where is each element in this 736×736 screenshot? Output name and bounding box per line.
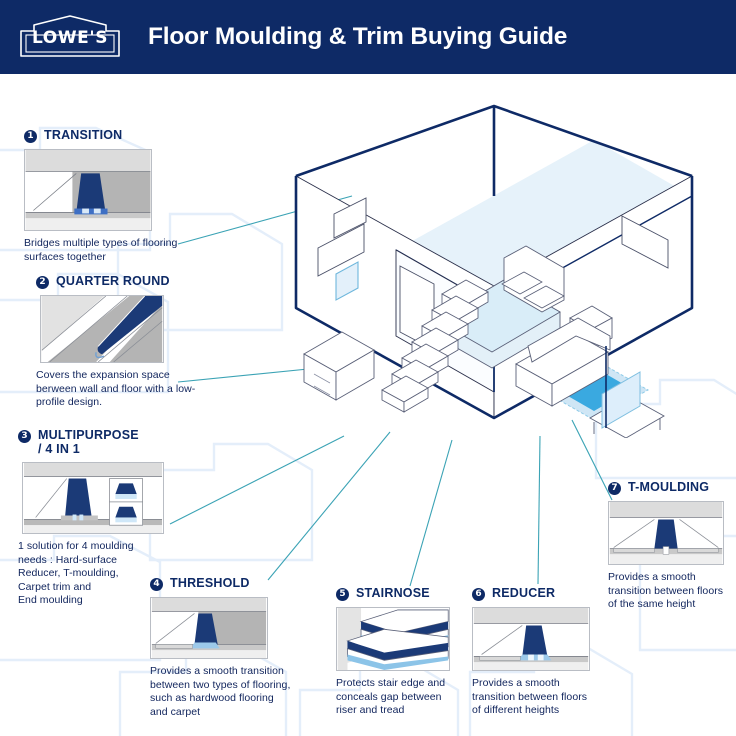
callout-transition[interactable]: 1 TRANSITION Bridges multiple types of f… xyxy=(24,128,182,264)
multipurpose-profile-figure xyxy=(22,462,164,534)
callout-badge-number: 4 xyxy=(150,578,163,591)
callout-badge-number: 7 xyxy=(608,482,621,495)
callout-title: QUARTER ROUND xyxy=(56,274,170,288)
connector-5 xyxy=(410,440,452,586)
callout-description: Provides a smooth transition between two… xyxy=(150,665,310,719)
callout-t-moulding[interactable]: 7 T-MOULDING Provides a smooth transitio… xyxy=(608,480,734,612)
callout-header: 3 MULTIPURPOSE / 4 IN 1 xyxy=(18,428,178,456)
callout-badge-number: 2 xyxy=(36,276,49,289)
callout-badge-number: 5 xyxy=(336,588,349,601)
callout-header: 6 REDUCER xyxy=(472,586,602,601)
lowes-logo-text: LOWE'S xyxy=(18,28,122,48)
callout-title: STAIRNOSE xyxy=(356,586,430,600)
callout-reducer[interactable]: 6 REDUCER Provides a smooth transition b… xyxy=(472,586,602,718)
connector-4 xyxy=(268,432,390,580)
callout-header: 7 T-MOULDING xyxy=(608,480,734,495)
callout-badge-number: 6 xyxy=(472,588,485,601)
transition-profile-figure xyxy=(24,149,152,231)
callout-header: 5 STAIRNOSE xyxy=(336,586,464,601)
callout-description: Covers the expansion space berween wall … xyxy=(36,369,206,410)
callout-title: T-MOULDING xyxy=(628,480,709,494)
callout-threshold[interactable]: 4 THRESHOLD Provides a smooth transition… xyxy=(150,576,310,719)
callout-stairnose[interactable]: 5 STAIRNOSE Protects stair edge and conc… xyxy=(336,586,464,718)
isometric-house-illustration xyxy=(276,88,712,438)
connector-3 xyxy=(170,436,344,524)
t-moulding-profile-figure xyxy=(608,501,724,565)
infographic-page: LOWE'S Floor Moulding & Trim Buying Guid… xyxy=(0,0,736,736)
callout-badge-number: 1 xyxy=(24,130,37,143)
stairnose-profile-figure xyxy=(336,607,450,671)
callout-header: 2 QUARTER ROUND xyxy=(36,274,206,289)
callout-description: Provides a smooth transition between flo… xyxy=(472,677,602,718)
callout-description: Bridges multiple types of flooring surfa… xyxy=(24,237,182,264)
quarter-round-profile-figure xyxy=(40,295,164,363)
callout-description: Provides a smooth transition between flo… xyxy=(608,571,734,612)
callout-description: Protects stair edge and conceals gap bet… xyxy=(336,677,464,718)
threshold-profile-figure xyxy=(150,597,268,659)
callout-title: REDUCER xyxy=(492,586,555,600)
lowes-logo[interactable]: LOWE'S xyxy=(18,15,122,59)
page-header: LOWE'S Floor Moulding & Trim Buying Guid… xyxy=(0,0,736,74)
callout-header: 1 TRANSITION xyxy=(24,128,182,143)
connector-6 xyxy=(538,436,540,584)
callout-title: THRESHOLD xyxy=(170,576,250,590)
callout-badge-number: 3 xyxy=(18,430,31,443)
page-title: Floor Moulding & Trim Buying Guide xyxy=(148,23,567,51)
callout-quarter-round[interactable]: 2 QUARTER ROUND Covers the expansion spa… xyxy=(36,274,206,410)
callout-header: 4 THRESHOLD xyxy=(150,576,310,591)
callout-title: MULTIPURPOSE / 4 IN 1 xyxy=(38,428,139,456)
reducer-profile-figure xyxy=(472,607,590,671)
callout-title: TRANSITION xyxy=(44,128,122,142)
